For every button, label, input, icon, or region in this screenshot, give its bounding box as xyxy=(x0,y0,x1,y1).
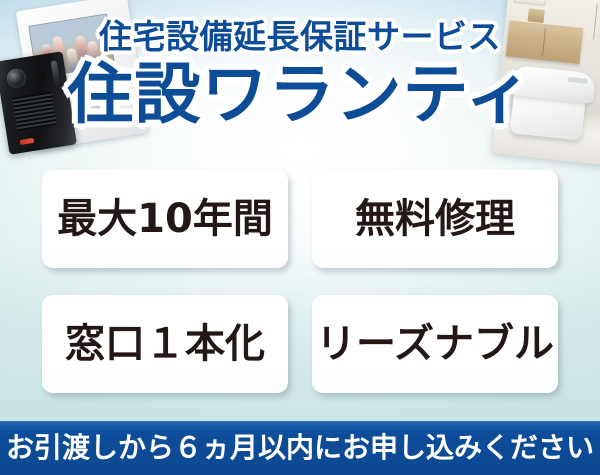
feature-box-free-repair: 無料修理 xyxy=(312,170,558,268)
door-call-button xyxy=(20,138,35,145)
application-deadline-text: お引渡しから６ヵ月以内にお申し込みください xyxy=(6,434,594,462)
subtitle-row: 住宅設備延長保証サービス xyxy=(0,20,600,53)
feature-label: 窓口１本化 xyxy=(65,324,265,364)
feature-label: 無料修理 xyxy=(355,199,515,239)
feature-box-reasonable: リーズナブル xyxy=(312,295,558,393)
service-subtitle: 住宅設備延長保証サービス xyxy=(99,20,501,53)
feature-label: リーズナブル xyxy=(316,324,554,364)
feature-grid: 最大10年間 無料修理 窓口１本化 リーズナブル xyxy=(42,170,558,393)
feature-label: 最大10年間 xyxy=(57,199,273,239)
title-row: 住設ワランティ xyxy=(0,62,600,128)
service-title: 住設ワランティ xyxy=(67,62,532,128)
service-banner: 住宅設備延長保証サービス 住設ワランティ 最大10年間 無料修理 窓口１本化 リ… xyxy=(0,0,600,475)
application-deadline-bar: お引渡しから６ヵ月以内にお申し込みください xyxy=(0,421,600,475)
feature-box-max-years: 最大10年間 xyxy=(42,170,288,268)
feature-box-single-contact: 窓口１本化 xyxy=(42,295,288,393)
